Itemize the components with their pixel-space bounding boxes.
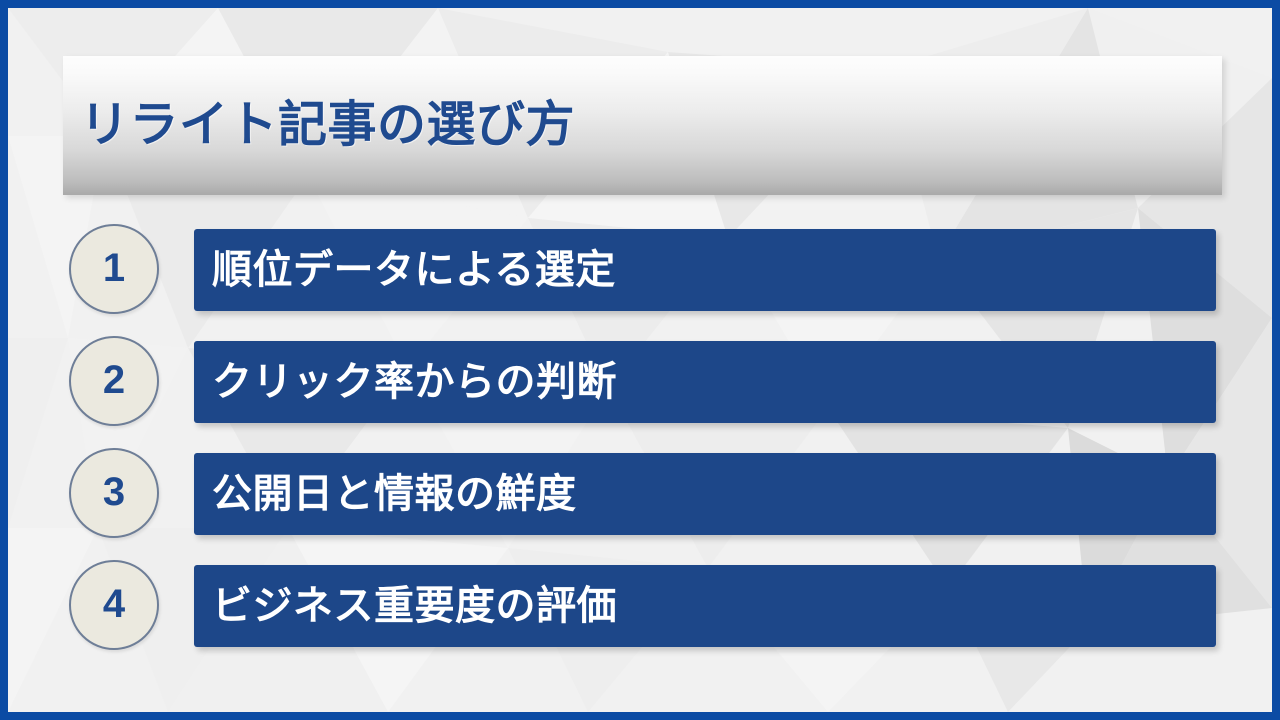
step-number-circle: 3 (69, 448, 159, 538)
step-number: 1 (103, 248, 125, 288)
step-number-circle: 1 (69, 224, 159, 314)
list-item[interactable]: 3 公開日と情報の鮮度 (8, 446, 1272, 558)
step-label: ビジネス重要度の評価 (212, 585, 617, 627)
step-number-circle: 2 (69, 336, 159, 426)
step-bar[interactable]: ビジネス重要度の評価 (194, 565, 1216, 647)
step-bar[interactable]: クリック率からの判断 (194, 341, 1216, 423)
step-number: 3 (103, 472, 125, 512)
step-number: 4 (103, 584, 125, 624)
step-bar[interactable]: 公開日と情報の鮮度 (194, 453, 1216, 535)
step-label: クリック率からの判断 (212, 361, 617, 403)
list-item[interactable]: 1 順位データによる選定 (8, 222, 1272, 334)
slide-root: リライト記事の選び方 1 順位データによる選定 2 クリック率からの判断 (0, 0, 1280, 720)
step-label: 公開日と情報の鮮度 (212, 473, 577, 515)
step-label: 順位データによる選定 (212, 249, 616, 291)
page-title: リライト記事の選び方 (80, 99, 575, 153)
step-number-circle: 4 (69, 560, 159, 650)
list-item[interactable]: 4 ビジネス重要度の評価 (8, 558, 1272, 670)
numbered-list: 1 順位データによる選定 2 クリック率からの判断 3 公開 (8, 222, 1272, 670)
list-item[interactable]: 2 クリック率からの判断 (8, 334, 1272, 446)
step-number: 2 (103, 360, 125, 400)
title-banner: リライト記事の選び方 (63, 56, 1222, 195)
slide-canvas: リライト記事の選び方 1 順位データによる選定 2 クリック率からの判断 (8, 8, 1272, 712)
step-bar[interactable]: 順位データによる選定 (194, 229, 1216, 311)
